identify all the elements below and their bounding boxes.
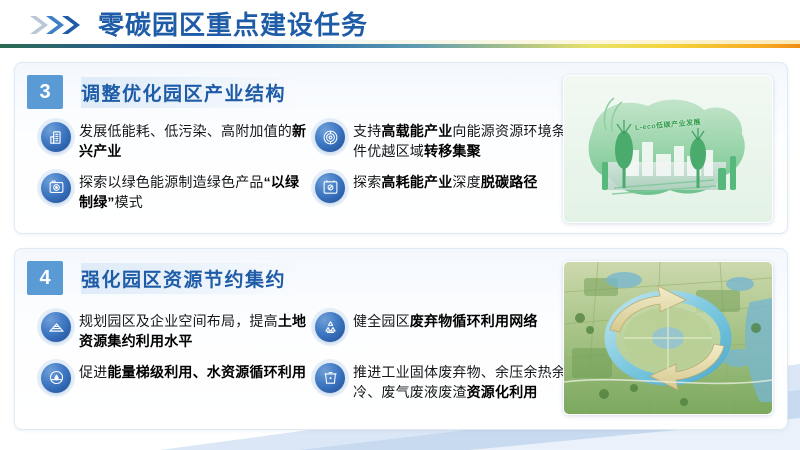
factory-building-icon <box>41 122 71 152</box>
list-item-text: 支持高载能产业向能源资源环境条件优越区域转移集聚 <box>353 121 569 162</box>
list-item[interactable]: 发展低能耗、低污染、高附加值的新兴产业 <box>41 121 307 162</box>
energy-target-icon <box>315 122 345 152</box>
list-item[interactable]: 探索以绿色能源制造绿色产品“以绿制绿”模式 <box>41 172 307 213</box>
section-4-heading: 强化园区资源节约集约 <box>81 263 296 294</box>
list-item[interactable]: 支持高载能产业向能源资源环境条件优越区域转移集聚 <box>315 121 569 162</box>
list-item-text: 促进能量梯级利用、水资源循环利用 <box>79 362 306 382</box>
list-item-text: 发展低能耗、低污染、高附加值的新兴产业 <box>79 121 307 162</box>
carbon-reduction-path-icon <box>315 173 345 203</box>
section-3-bullet-grid: 发展低能耗、低污染、高附加值的新兴产业 支持高载能产业向能源资源环境条件优越区域… <box>41 121 561 212</box>
page-title: 零碳园区重点建设任务 <box>98 12 368 38</box>
recycle-triangle-icon <box>315 312 345 342</box>
land-layout-icon <box>41 312 71 342</box>
slide-title-row: 零碳园区重点建设任务 <box>0 8 800 42</box>
section-4-bullet-grid: 规划园区及企业空间布局，提高土地资源集约利用水平 健全园区废弃物循环利用网络 <box>41 311 561 402</box>
list-item[interactable]: 推进工业固体废弃物、余压余热余冷、废气废液废渣资源化利用 <box>315 362 569 403</box>
title-rule <box>0 44 800 48</box>
list-item-text: 探索高耗能产业深度脱碳路径 <box>353 172 538 192</box>
recycle-bin-icon <box>315 363 345 393</box>
section-card-3: 3 调整优化园区产业结构 发展低能耗、低污染、高附加值的新兴产业 <box>14 62 788 234</box>
section-card-4: 4 强化园区资源节约集约 规划园区及企业空间布局，提高土地资源集约利用水平 <box>14 248 788 430</box>
circular-economy-aerial-illustration <box>563 261 773 415</box>
section-3-number-badge: 3 <box>27 75 63 109</box>
list-item[interactable]: 探索高耗能产业深度脱碳路径 <box>315 172 569 213</box>
list-item-text: 健全园区废弃物循环利用网络 <box>353 311 538 331</box>
list-item-text: 规划园区及企业空间布局，提高土地资源集约利用水平 <box>79 311 307 352</box>
list-item-text: 探索以绿色能源制造绿色产品“以绿制绿”模式 <box>79 172 307 213</box>
low-carbon-industry-illustration: L-eco低碳产业发展 <box>563 75 773 223</box>
triple-chevron-right-icon <box>28 14 84 36</box>
section-3-heading: 调整优化园区产业结构 <box>81 77 296 108</box>
list-item[interactable]: 促进能量梯级利用、水资源循环利用 <box>41 362 307 403</box>
section-4-number-badge: 4 <box>27 261 63 295</box>
water-drop-icon <box>41 363 71 393</box>
section-4-header: 4 强化园区资源节约集约 <box>27 261 296 295</box>
list-item[interactable]: 规划园区及企业空间布局，提高土地资源集约利用水平 <box>41 311 307 352</box>
section-3-header: 3 调整优化园区产业结构 <box>27 75 296 109</box>
list-item-text: 推进工业固体废弃物、余压余热余冷、废气废液废渣资源化利用 <box>353 362 569 403</box>
list-item[interactable]: 健全园区废弃物循环利用网络 <box>315 311 569 352</box>
green-product-box-icon <box>41 173 71 203</box>
